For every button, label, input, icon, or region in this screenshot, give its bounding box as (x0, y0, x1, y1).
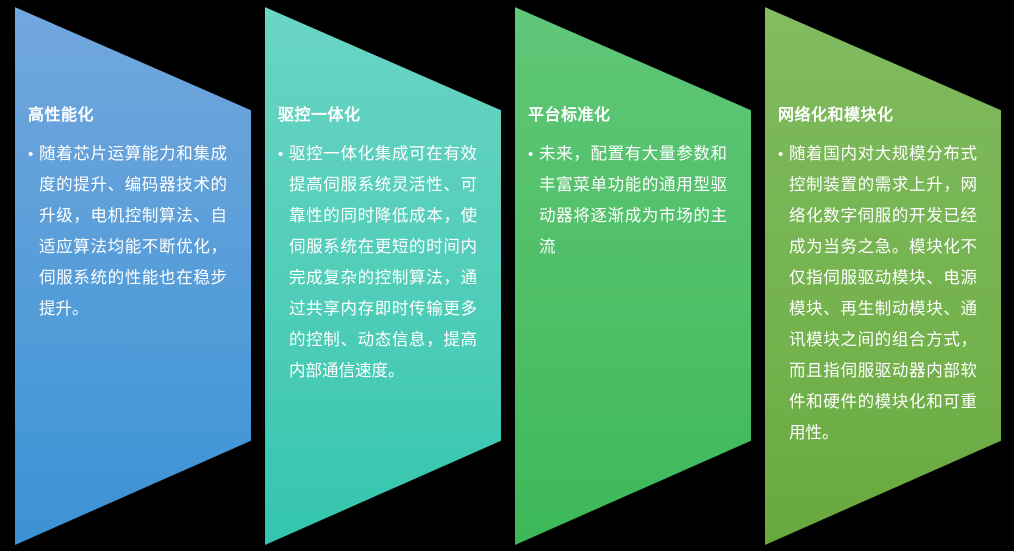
panel-content: 高性能化 随着芯片运算能力和集成度的提升、编码器技术的升级，电机控制算法、自适应… (28, 106, 227, 325)
chevron-panel-platform-standardization[interactable]: 平台标准化 未来，配置有大量参数和丰富菜单功能的通用型驱动器将逐渐成为市场的主流 (515, 0, 751, 551)
panel-title: 高性能化 (28, 106, 227, 127)
panel-bullet-list: 随着国内对大规模分布式控制装置的需求上升，网络化数字伺服的开发已经成为当务之急。… (778, 139, 977, 449)
panel-bullet-list: 随着芯片运算能力和集成度的提升、编码器技术的升级，电机控制算法、自适应算法均能不… (28, 139, 227, 325)
panel-content: 平台标准化 未来，配置有大量参数和丰富菜单功能的通用型驱动器将逐渐成为市场的主流 (528, 106, 727, 263)
chevron-panel-high-performance[interactable]: 高性能化 随着芯片运算能力和集成度的提升、编码器技术的升级，电机控制算法、自适应… (15, 0, 251, 551)
panel-content: 网络化和模块化 随着国内对大规模分布式控制装置的需求上升，网络化数字伺服的开发已… (778, 106, 977, 449)
panel-bullet-text: 驱控一体化集成可在有效提高伺服系统灵活性、可靠性的同时降低成本，使伺服系统在更短… (278, 139, 477, 387)
panel-bullet-text: 未来，配置有大量参数和丰富菜单功能的通用型驱动器将逐渐成为市场的主流 (528, 139, 727, 263)
panel-bullet-list: 驱控一体化集成可在有效提高伺服系统灵活性、可靠性的同时降低成本，使伺服系统在更短… (278, 139, 477, 387)
panel-content: 驱控一体化 驱控一体化集成可在有效提高伺服系统灵活性、可靠性的同时降低成本，使伺… (278, 106, 477, 387)
panel-title: 平台标准化 (528, 106, 727, 127)
chevron-panel-drive-control-integration[interactable]: 驱控一体化 驱控一体化集成可在有效提高伺服系统灵活性、可靠性的同时降低成本，使伺… (265, 0, 501, 551)
panel-bullet-list: 未来，配置有大量参数和丰富菜单功能的通用型驱动器将逐渐成为市场的主流 (528, 139, 727, 263)
panel-bullet-text: 随着国内对大规模分布式控制装置的需求上升，网络化数字伺服的开发已经成为当务之急。… (778, 139, 977, 449)
panel-title: 网络化和模块化 (778, 106, 977, 127)
panel-title: 驱控一体化 (278, 106, 477, 127)
chevron-panel-networking-modularization[interactable]: 网络化和模块化 随着国内对大规模分布式控制装置的需求上升，网络化数字伺服的开发已… (765, 0, 1001, 551)
panel-bullet-text: 随着芯片运算能力和集成度的提升、编码器技术的升级，电机控制算法、自适应算法均能不… (28, 139, 227, 325)
slide-canvas: 高性能化 随着芯片运算能力和集成度的提升、编码器技术的升级，电机控制算法、自适应… (0, 0, 1014, 551)
